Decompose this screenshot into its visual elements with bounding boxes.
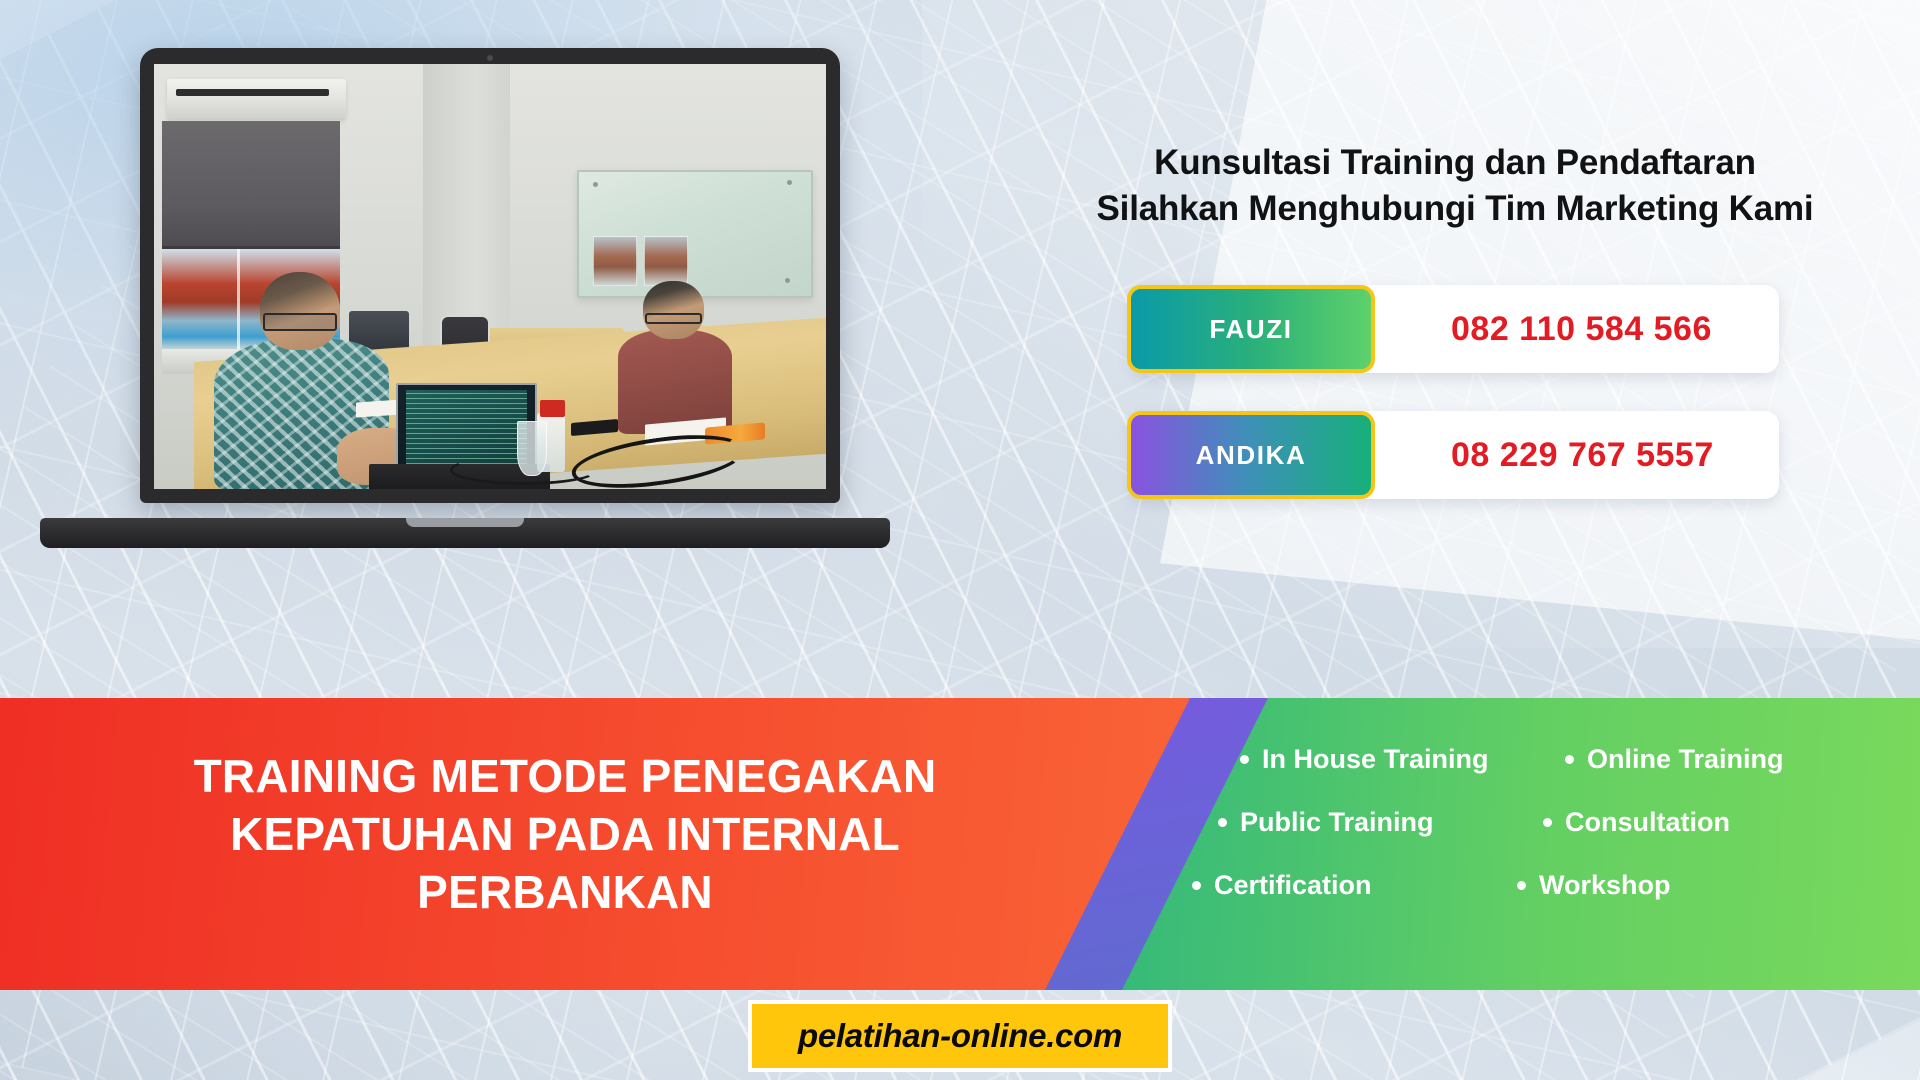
photo-air-conditioner	[167, 79, 345, 119]
photo-whiteboard-note	[593, 236, 637, 285]
contact-panel: Kunsultasi Training dan Pendaftaran Sila…	[1050, 140, 1860, 499]
photo-window-blind	[162, 121, 340, 249]
laptop-lid	[140, 48, 840, 503]
bottom-band: TRAINING METODE PENEGAKAN KEPATUHAN PADA…	[0, 698, 1920, 990]
website-url-chip[interactable]: pelatihan-online.com	[748, 1000, 1172, 1072]
bullet-icon	[1517, 881, 1526, 890]
photo-bottle-cap	[540, 400, 564, 417]
bullet-icon	[1543, 818, 1552, 827]
promotional-banner: Kunsultasi Training dan Pendaftaran Sila…	[0, 0, 1920, 1080]
services-list: In House Training Online Training Public…	[1240, 744, 1880, 901]
contact-heading-line-1: Kunsultasi Training dan Pendaftaran	[1154, 143, 1756, 182]
page-title-line-1: TRAINING METODE PENEGAKAN	[60, 748, 1070, 806]
service-label: Workshop	[1539, 870, 1671, 901]
service-item-workshop[interactable]: Workshop	[1517, 870, 1832, 901]
laptop-screen	[154, 64, 826, 489]
photo-participant-right	[618, 281, 732, 426]
photo-cable	[450, 455, 598, 485]
page-title-line-3: PERBANKAN	[60, 864, 1070, 922]
service-label: Public Training	[1240, 807, 1434, 838]
photo-participant-head	[643, 281, 705, 339]
contact-heading: Kunsultasi Training dan Pendaftaran Sila…	[1050, 140, 1860, 231]
photo-participant-left	[214, 272, 389, 489]
laptop-base	[40, 518, 890, 548]
bullet-icon	[1240, 755, 1249, 764]
service-item-public-training[interactable]: Public Training	[1218, 807, 1533, 838]
training-session-photo	[154, 64, 826, 489]
contact-name-label: FAUZI	[1209, 314, 1292, 345]
contact-heading-line-2: Silahkan Menghubungi Tim Marketing Kami	[1050, 186, 1860, 232]
service-label: Consultation	[1565, 807, 1730, 838]
photo-whiteboard	[577, 170, 812, 298]
service-item-certification[interactable]: Certification	[1192, 870, 1507, 901]
bullet-icon	[1192, 881, 1201, 890]
photo-whiteboard-pin	[787, 180, 792, 185]
contact-name-badge-fauzi: FAUZI	[1127, 285, 1375, 373]
contact-phone-andika[interactable]: 08 229 767 5557	[1451, 436, 1714, 475]
bullet-icon	[1218, 818, 1227, 827]
bullet-icon	[1565, 755, 1574, 764]
page-title-line-2: KEPATUHAN PADA INTERNAL	[60, 806, 1070, 864]
photo-whiteboard-note	[644, 236, 688, 285]
laptop-notch	[406, 518, 524, 527]
laptop-mockup	[40, 48, 890, 548]
webcam-icon	[487, 55, 493, 61]
contact-phone-fauzi[interactable]: 082 110 584 566	[1451, 310, 1712, 349]
service-item-online-training[interactable]: Online Training	[1565, 744, 1880, 775]
service-label: In House Training	[1262, 744, 1489, 775]
service-item-in-house-training[interactable]: In House Training	[1240, 744, 1555, 775]
contact-name-badge-andika: ANDIKA	[1127, 411, 1375, 499]
service-label: Online Training	[1587, 744, 1784, 775]
contact-name-label: ANDIKA	[1196, 440, 1307, 471]
photo-participant-glasses	[645, 313, 702, 325]
contact-card-fauzi[interactable]: FAUZI 082 110 584 566	[1131, 285, 1779, 373]
contact-card-andika[interactable]: ANDIKA 08 229 767 5557	[1131, 411, 1779, 499]
photo-participant-head	[260, 272, 340, 350]
photo-participant-glasses	[263, 313, 336, 330]
page-title: TRAINING METODE PENEGAKAN KEPATUHAN PADA…	[60, 748, 1070, 922]
photo-whiteboard-pin	[593, 182, 598, 187]
service-item-consultation[interactable]: Consultation	[1543, 807, 1858, 838]
photo-whiteboard-pin	[785, 278, 790, 283]
service-label: Certification	[1214, 870, 1372, 901]
